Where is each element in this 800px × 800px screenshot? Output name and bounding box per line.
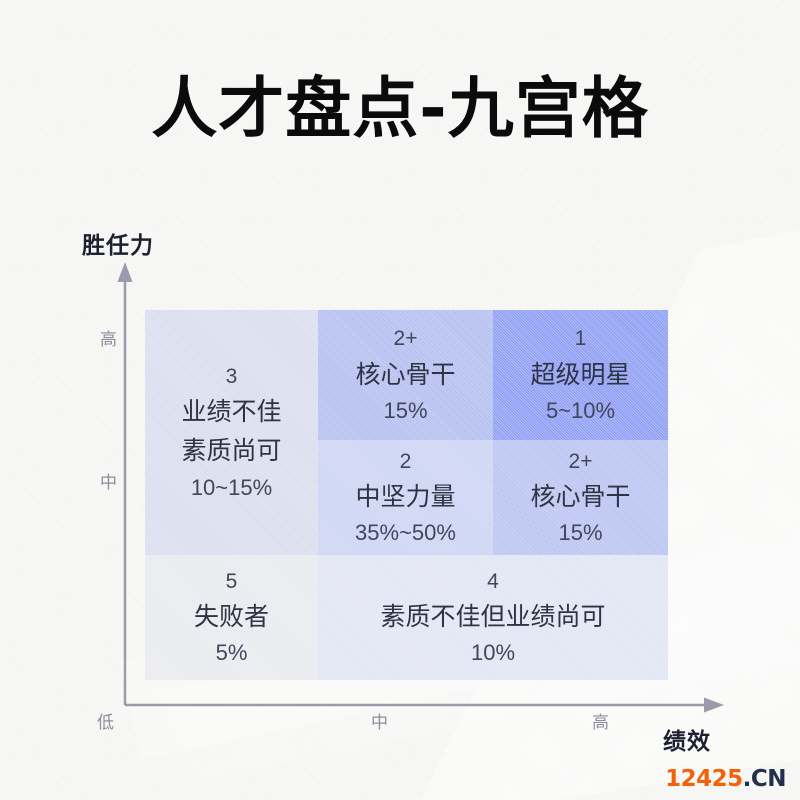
cell-label: 核心骨干 [530, 478, 630, 516]
cell-label-1: 业绩不佳 [181, 393, 281, 432]
cell-number: 3 [226, 361, 238, 394]
grid-cell-4-poor-potential-ok-performance[interactable]: 4 素质不佳但业绩尚可 10% [318, 555, 668, 680]
x-axis-title: 绩效 [663, 722, 711, 756]
cell-number: 2+ [394, 323, 418, 356]
cell-label: 中坚力量 [355, 478, 455, 516]
grid-cell-2plus-core-backbone-top[interactable]: 2+ 核心骨干 15% [318, 310, 493, 440]
cell-label: 失败者 [194, 598, 269, 636]
y-tick-high: 高 [100, 325, 117, 350]
grid-cell-5-failure[interactable]: 5 失败者 5% [145, 555, 318, 680]
cell-number: 5 [226, 566, 238, 599]
cell-label-2: 素质尚可 [181, 432, 281, 471]
nine-box-grid: 3 业绩不佳 素质尚可 10~15% 2+ 核心骨干 15% 1 超级明星 5~… [145, 310, 668, 680]
cell-percent: 5~10% [546, 394, 615, 427]
cell-label: 超级明星 [530, 356, 630, 394]
y-axis-title: 胜任力 [82, 226, 154, 260]
cell-label: 核心骨干 [355, 356, 455, 394]
cell-number: 4 [487, 566, 499, 599]
cell-percent: 10% [471, 636, 515, 669]
y-tick-mid: 中 [100, 468, 117, 493]
site-watermark: 12425.CN [665, 766, 786, 792]
grid-cell-3-low-performance-ok-potential[interactable]: 3 业绩不佳 素质尚可 10~15% [145, 310, 318, 555]
diagram-stage: 人才盘点-九宫格 胜任力 绩效 高 中 低 中 高 3 业绩不佳 素质尚可 10… [0, 0, 800, 800]
cell-number: 2+ [569, 446, 593, 479]
cell-percent: 35%~50% [355, 516, 456, 549]
cell-label: 素质不佳但业绩尚可 [380, 598, 605, 636]
watermark-tld: .CN [743, 766, 786, 792]
x-tick-high: 高 [592, 708, 609, 733]
watermark-number: 12425 [665, 766, 743, 792]
x-tick-mid: 中 [371, 708, 388, 733]
cell-number: 1 [575, 323, 587, 356]
grid-cell-2plus-core-backbone-mid[interactable]: 2+ 核心骨干 15% [493, 440, 668, 555]
grid-cell-2-core-strength[interactable]: 2 中坚力量 35%~50% [318, 440, 493, 555]
cell-percent: 15% [383, 394, 427, 427]
cell-percent: 15% [558, 516, 602, 549]
grid-cell-1-superstar[interactable]: 1 超级明星 5~10% [493, 310, 668, 440]
x-tick-low: 低 [97, 708, 114, 733]
cell-percent: 5% [216, 636, 248, 669]
page-title: 人才盘点-九宫格 [0, 76, 800, 142]
cell-number: 2 [400, 446, 412, 479]
cell-percent: 10~15% [191, 471, 272, 504]
